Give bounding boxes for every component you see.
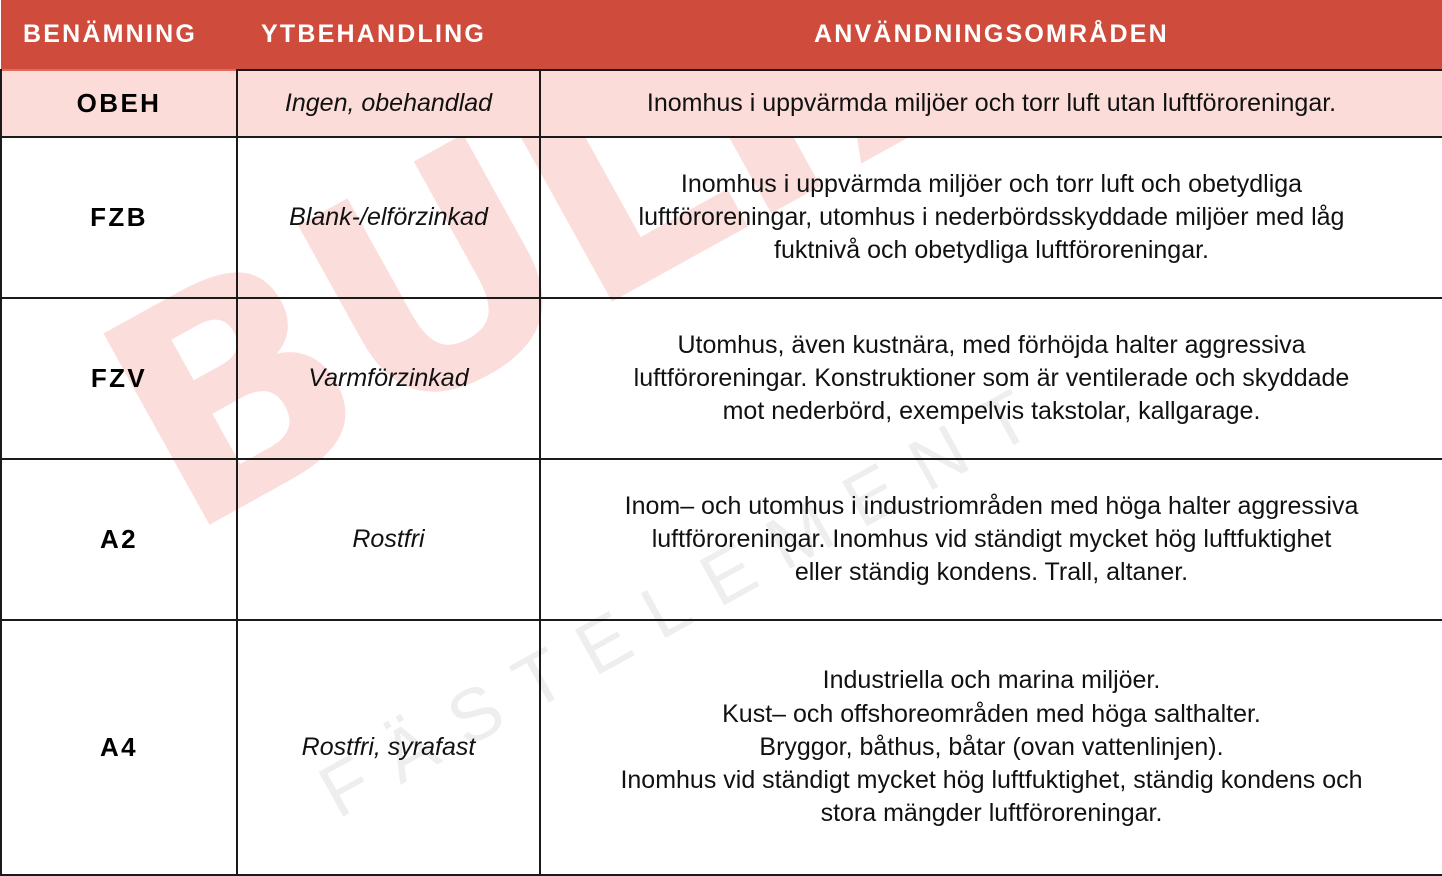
table-header: BENÄMNING YTBEHANDLING ANVÄNDNINGSOMRÅDE… (1, 0, 1442, 70)
cell-code: OBEH (1, 70, 237, 137)
usage-line: Inomhus i uppvärmda miljöer och torr luf… (563, 168, 1420, 201)
table-row: FZB Blank-/elförzinkad Inomhus i uppvärm… (1, 137, 1442, 298)
table-row: OBEH Ingen, obehandlad Inomhus i uppvärm… (1, 70, 1442, 137)
usage-line: Bryggor, båthus, båtar (ovan vattenlinje… (563, 731, 1420, 764)
column-header-ytbehandling: YTBEHANDLING (237, 0, 540, 70)
usage-line: Inomhus vid ständigt mycket hög luftfukt… (563, 764, 1420, 797)
cell-code: FZB (1, 137, 237, 298)
surface-treatment-table: BENÄMNING YTBEHANDLING ANVÄNDNINGSOMRÅDE… (0, 0, 1442, 876)
table-row: A4 Rostfri, syrafast Industriella och ma… (1, 620, 1442, 875)
cell-usage: Industriella och marina miljöer. Kust– o… (540, 620, 1442, 875)
usage-line: Industriella och marina miljöer. (563, 664, 1420, 697)
cell-usage: Inomhus i uppvärmda miljöer och torr luf… (540, 70, 1442, 137)
usage-line: Inom– och utomhus i industriområden med … (563, 490, 1420, 523)
column-header-anvandningsomraden: ANVÄNDNINGSOMRÅDEN (540, 0, 1442, 70)
cell-treatment: Rostfri, syrafast (237, 620, 540, 875)
usage-line: Inomhus i uppvärmda miljöer och torr luf… (563, 87, 1420, 120)
usage-line: Kust– och offshoreområden med höga salth… (563, 698, 1420, 731)
cell-treatment: Ingen, obehandlad (237, 70, 540, 137)
usage-line: luftföroreningar. Inomhus vid ständigt m… (563, 523, 1420, 556)
table-body: OBEH Ingen, obehandlad Inomhus i uppvärm… (1, 70, 1442, 875)
usage-line: mot nederbörd, exempelvis takstolar, kal… (563, 395, 1420, 428)
usage-line: eller ständig kondens. Trall, altaner. (563, 556, 1420, 589)
cell-code: FZV (1, 298, 237, 459)
usage-line: luftföroreningar. Konstruktioner som är … (563, 362, 1420, 395)
cell-code: A2 (1, 459, 237, 620)
table-row: FZV Varmförzinkad Utomhus, även kustnära… (1, 298, 1442, 459)
cell-code: A4 (1, 620, 237, 875)
table-container: BENÄMNING YTBEHANDLING ANVÄNDNINGSOMRÅDE… (0, 0, 1442, 876)
header-row: BENÄMNING YTBEHANDLING ANVÄNDNINGSOMRÅDE… (1, 0, 1442, 70)
cell-usage: Inomhus i uppvärmda miljöer och torr luf… (540, 137, 1442, 298)
cell-treatment: Rostfri (237, 459, 540, 620)
cell-usage: Utomhus, även kustnära, med förhöjda hal… (540, 298, 1442, 459)
usage-line: luftföroreningar, utomhus i nederbördssk… (563, 201, 1420, 234)
cell-treatment: Varmförzinkad (237, 298, 540, 459)
usage-line: stora mängder luftföroreningar. (563, 797, 1420, 830)
surface-treatment-table-page: BULTAB FÄSTELEMENT BENÄMNING YTBEHANDLIN… (0, 0, 1442, 876)
usage-line: fuktnivå och obetydliga luftföroreningar… (563, 234, 1420, 267)
cell-treatment: Blank-/elförzinkad (237, 137, 540, 298)
column-header-benamning: BENÄMNING (1, 0, 237, 70)
table-row: A2 Rostfri Inom– och utomhus i industrio… (1, 459, 1442, 620)
usage-line: Utomhus, även kustnära, med förhöjda hal… (563, 329, 1420, 362)
cell-usage: Inom– och utomhus i industriområden med … (540, 459, 1442, 620)
